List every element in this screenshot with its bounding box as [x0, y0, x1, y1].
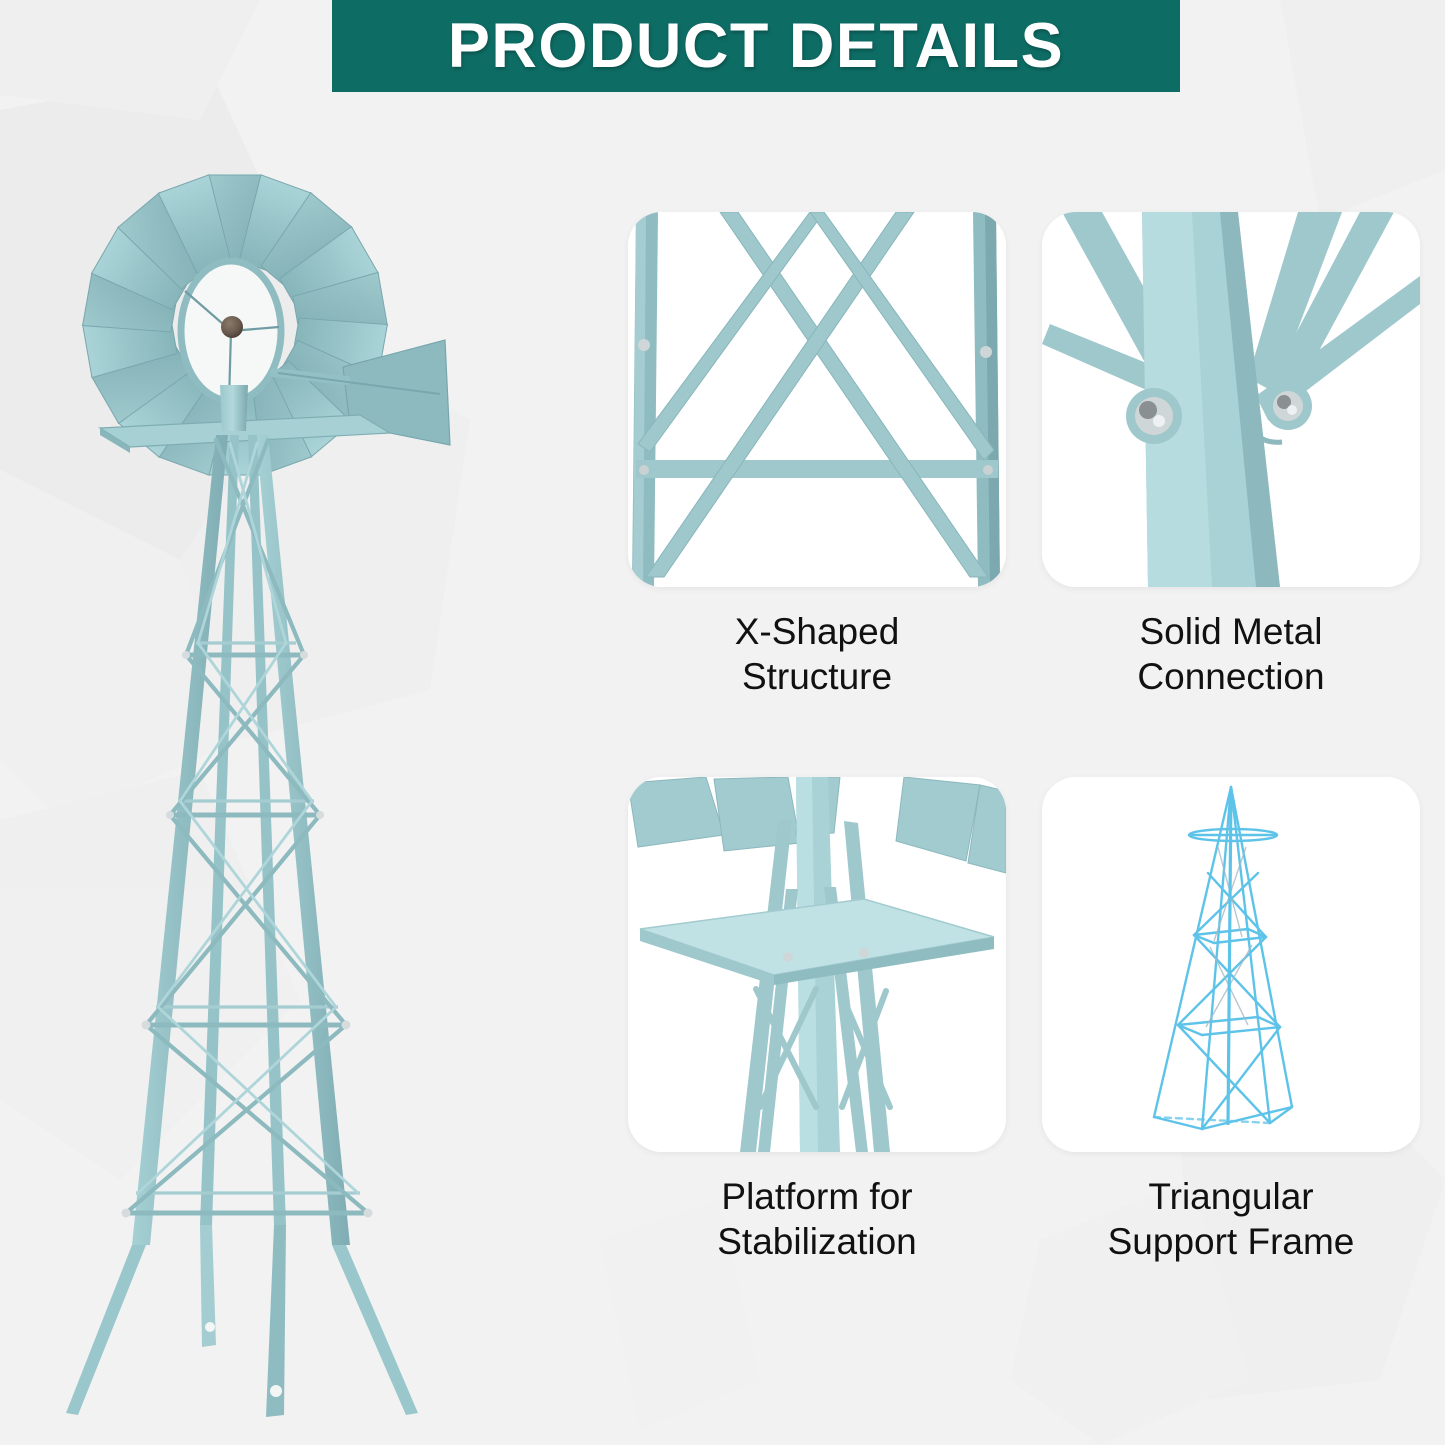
caption-line: Support Frame: [1042, 1219, 1420, 1264]
caption-line: Structure: [628, 654, 1006, 699]
caption-line: Connection: [1042, 654, 1420, 699]
feature-caption-platform-for-stabilization: Platform for Stabilization: [628, 1152, 1006, 1292]
feature-image-solid-metal-connection: [1042, 212, 1420, 587]
caption-line: Triangular: [1042, 1174, 1420, 1219]
feature-caption-x-shaped-structure: X-Shaped Structure: [628, 587, 1006, 777]
caption-line: Stabilization: [628, 1219, 1006, 1264]
page-title: PRODUCT DETAILS: [448, 15, 1064, 78]
feature-card-solid-metal-connection[interactable]: [1042, 212, 1420, 587]
feature-card-triangular-support-frame[interactable]: [1042, 777, 1420, 1152]
caption-line: Platform for: [628, 1174, 1006, 1219]
feature-image-triangular-support-frame: [1042, 777, 1420, 1152]
product-hero-image: [20, 95, 610, 1440]
feature-caption-solid-metal-connection: Solid Metal Connection: [1042, 587, 1420, 777]
header-banner: PRODUCT DETAILS: [332, 0, 1180, 92]
feature-grid: X-Shaped Structure Solid Metal Connectio…: [628, 212, 1428, 1292]
caption-line: Solid Metal: [1042, 609, 1420, 654]
ground-stakes: [66, 1225, 418, 1417]
feature-caption-triangular-support-frame: Triangular Support Frame: [1042, 1152, 1420, 1292]
caption-line: X-Shaped: [628, 609, 1006, 654]
hub-bolt: [221, 316, 243, 338]
feature-image-x-shaped-structure: [628, 212, 1006, 587]
feature-card-platform-for-stabilization[interactable]: [628, 777, 1006, 1152]
tower-frame: [122, 435, 373, 1245]
feature-image-platform-for-stabilization: [628, 777, 1006, 1152]
feature-card-x-shaped-structure[interactable]: [628, 212, 1006, 587]
mast: [220, 385, 248, 431]
